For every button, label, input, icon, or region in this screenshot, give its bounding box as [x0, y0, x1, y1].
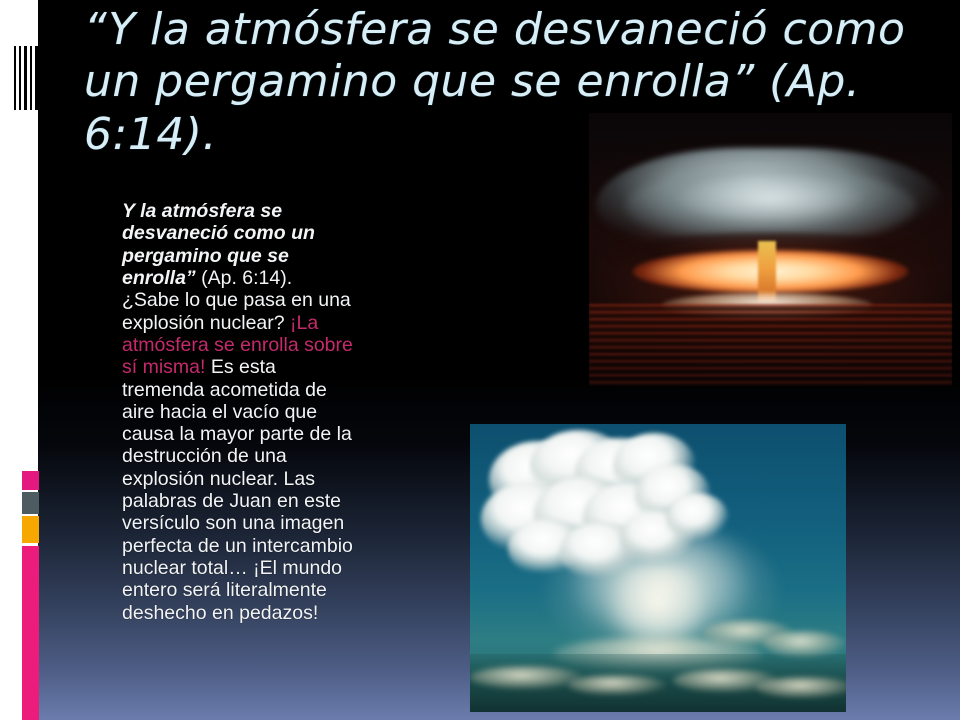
slide-body-text: Y la atmósfera se desvaneció como un per…: [122, 200, 354, 624]
body-segment-2: Es esta tremenda acometida de aire hacia…: [122, 356, 353, 623]
presentation-slide: “Y la atmósfera se desvaneció como un pe…: [0, 0, 960, 720]
cloud-billow: [666, 493, 730, 545]
swatch-slate: [22, 492, 39, 514]
swatch-long-pink: [22, 546, 39, 720]
left-decor-strip: [0, 0, 38, 720]
low-cloud: [756, 677, 846, 697]
low-cloud: [568, 675, 666, 695]
swatch-pink: [22, 471, 39, 490]
day-mushroom-cloud-photo: [470, 424, 846, 712]
ocean-surface: [589, 304, 952, 386]
low-cloud: [470, 666, 583, 689]
barcode-bars-icon: [14, 46, 39, 110]
swatch-amber: [22, 516, 39, 543]
night-nuclear-test-photo: [589, 113, 952, 386]
slide-stage: “Y la atmósfera se desvaneció como un pe…: [38, 0, 960, 720]
